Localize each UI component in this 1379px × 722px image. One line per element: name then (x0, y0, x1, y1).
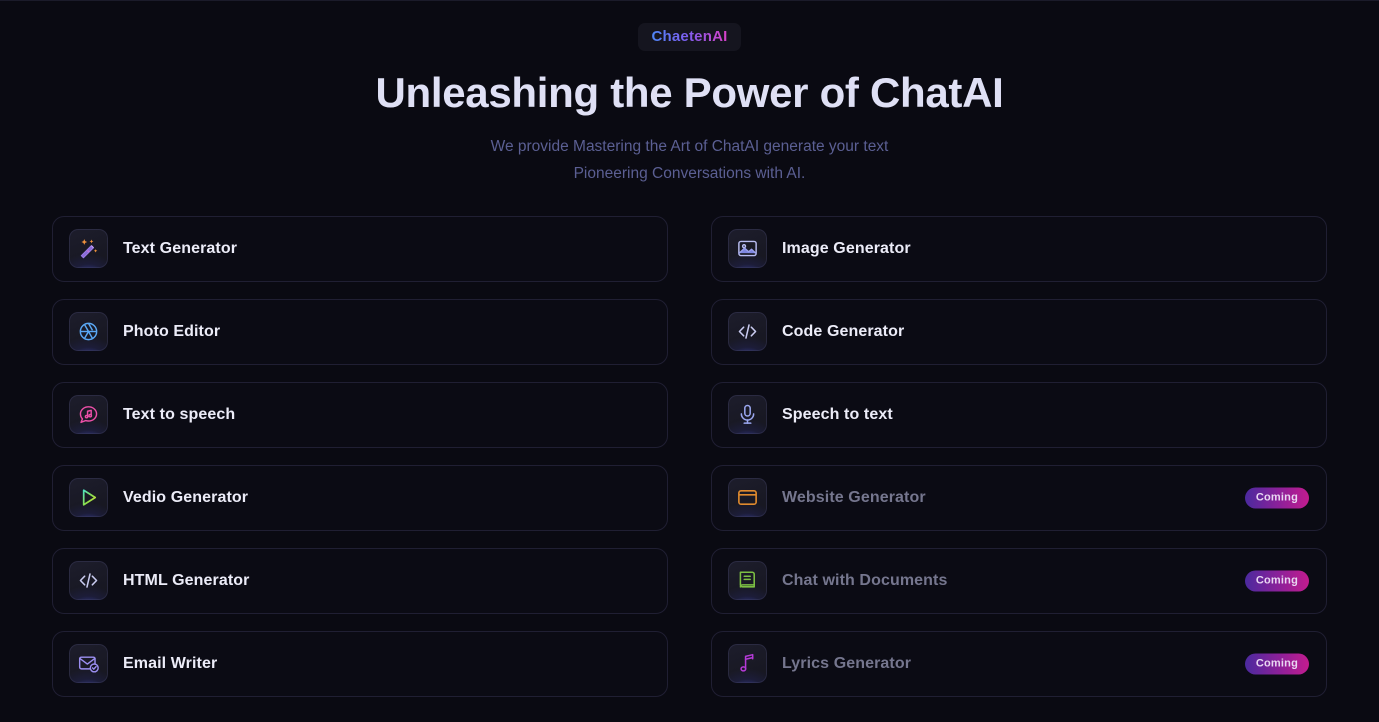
magic-wand-icon (69, 229, 108, 268)
feature-card-website-generator: Website GeneratorComing (711, 465, 1327, 531)
music-note-icon (728, 644, 767, 683)
brand-label: ChaetenAI (652, 28, 728, 45)
chat-music-icon (69, 395, 108, 434)
browser-window-icon (728, 478, 767, 517)
feature-card-text-generator[interactable]: Text Generator (52, 216, 668, 282)
feature-card-label: Vedio Generator (123, 489, 248, 507)
page-subtitle: We provide Mastering the Art of ChatAI g… (491, 133, 889, 187)
feature-card-label: Speech to text (782, 406, 893, 424)
feature-card-label: Code Generator (782, 323, 904, 341)
coming-soon-badge: Coming (1245, 653, 1309, 674)
aperture-icon (69, 312, 108, 351)
image-icon (728, 229, 767, 268)
feature-card-code-generator[interactable]: Code Generator (711, 299, 1327, 365)
feature-card-lyrics-generator: Lyrics GeneratorComing (711, 631, 1327, 697)
feature-card-label: HTML Generator (123, 572, 249, 590)
feature-card-email-writer[interactable]: Email Writer (52, 631, 668, 697)
code-brackets-icon (69, 561, 108, 600)
page-subtitle-line-1: We provide Mastering the Art of ChatAI g… (491, 138, 889, 155)
book-icon (728, 561, 767, 600)
page-root: ChaetenAI Unleashing the Power of ChatAI… (0, 0, 1379, 722)
microphone-icon (728, 395, 767, 434)
mail-check-icon (69, 644, 108, 683)
feature-card-label: Lyrics Generator (782, 655, 911, 673)
feature-card-text-to-speech[interactable]: Text to speech (52, 382, 668, 448)
feature-card-label: Website Generator (782, 489, 926, 507)
feature-card-label: Text to speech (123, 406, 235, 424)
play-icon (69, 478, 108, 517)
feature-card-html-generator[interactable]: HTML Generator (52, 548, 668, 614)
feature-card-grid: Text Generator Image Generator Photo Edi… (52, 216, 1327, 697)
code-brackets-icon (728, 312, 767, 351)
brand-badge: ChaetenAI (638, 23, 742, 51)
feature-card-vedio-generator[interactable]: Vedio Generator (52, 465, 668, 531)
feature-card-speech-to-text[interactable]: Speech to text (711, 382, 1327, 448)
feature-card-label: Photo Editor (123, 323, 220, 341)
coming-soon-badge: Coming (1245, 570, 1309, 591)
feature-card-label: Image Generator (782, 240, 911, 258)
page-subtitle-line-2: Pioneering Conversations with AI. (574, 165, 806, 182)
feature-card-label: Email Writer (123, 655, 217, 673)
feature-card-label: Chat with Documents (782, 572, 947, 590)
feature-card-chat-with-documents: Chat with DocumentsComing (711, 548, 1327, 614)
page-title: Unleashing the Power of ChatAI (375, 68, 1003, 118)
feature-card-photo-editor[interactable]: Photo Editor (52, 299, 668, 365)
coming-soon-badge: Coming (1245, 487, 1309, 508)
feature-card-label: Text Generator (123, 240, 237, 258)
feature-card-image-generator[interactable]: Image Generator (711, 216, 1327, 282)
top-divider (0, 0, 1379, 1)
